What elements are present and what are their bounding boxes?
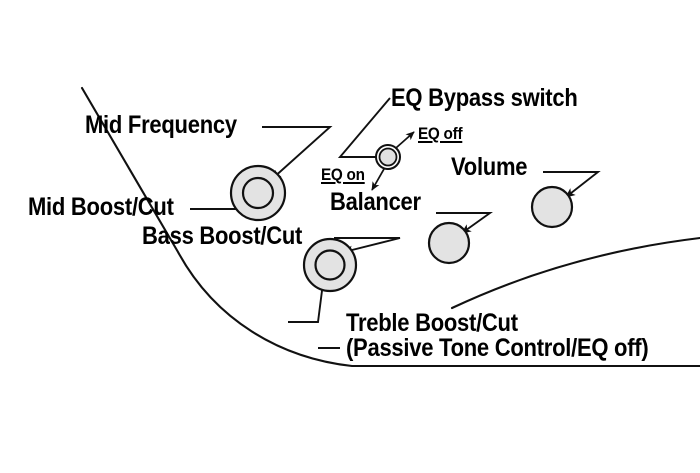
eq-bypass-switch-button[interactable]: [380, 149, 397, 166]
diagram-canvas: [0, 0, 700, 473]
eq-bypass-switch[interactable]: [376, 145, 400, 169]
label-eq-bypass-switch: EQ Bypass switch: [391, 86, 578, 112]
label-eq-off: EQ off: [418, 125, 462, 142]
control-layout-diagram: Mid Frequency Mid Boost/Cut Bass Boost/C…: [0, 0, 700, 473]
volume-knob[interactable]: [532, 187, 572, 227]
label-balancer: Balancer: [330, 190, 421, 216]
label-mid-frequency: Mid Frequency: [85, 113, 237, 139]
label-passive-tone-control: (Passive Tone Control/EQ off): [346, 334, 648, 363]
bass-treble-knob[interactable]: [304, 239, 356, 291]
mid-knob[interactable]: [231, 166, 285, 220]
treble-boost-cut-knob-inner[interactable]: [316, 251, 345, 280]
balancer-knob[interactable]: [429, 223, 469, 263]
mid-boost-cut-knob-inner[interactable]: [243, 178, 273, 208]
body-edge-right: [452, 238, 700, 308]
label-eq-on: EQ on: [321, 166, 365, 183]
label-bass-boost-cut: Bass Boost/Cut: [142, 224, 302, 250]
label-volume: Volume: [451, 155, 527, 181]
label-mid-boost-cut: Mid Boost/Cut: [28, 195, 174, 221]
